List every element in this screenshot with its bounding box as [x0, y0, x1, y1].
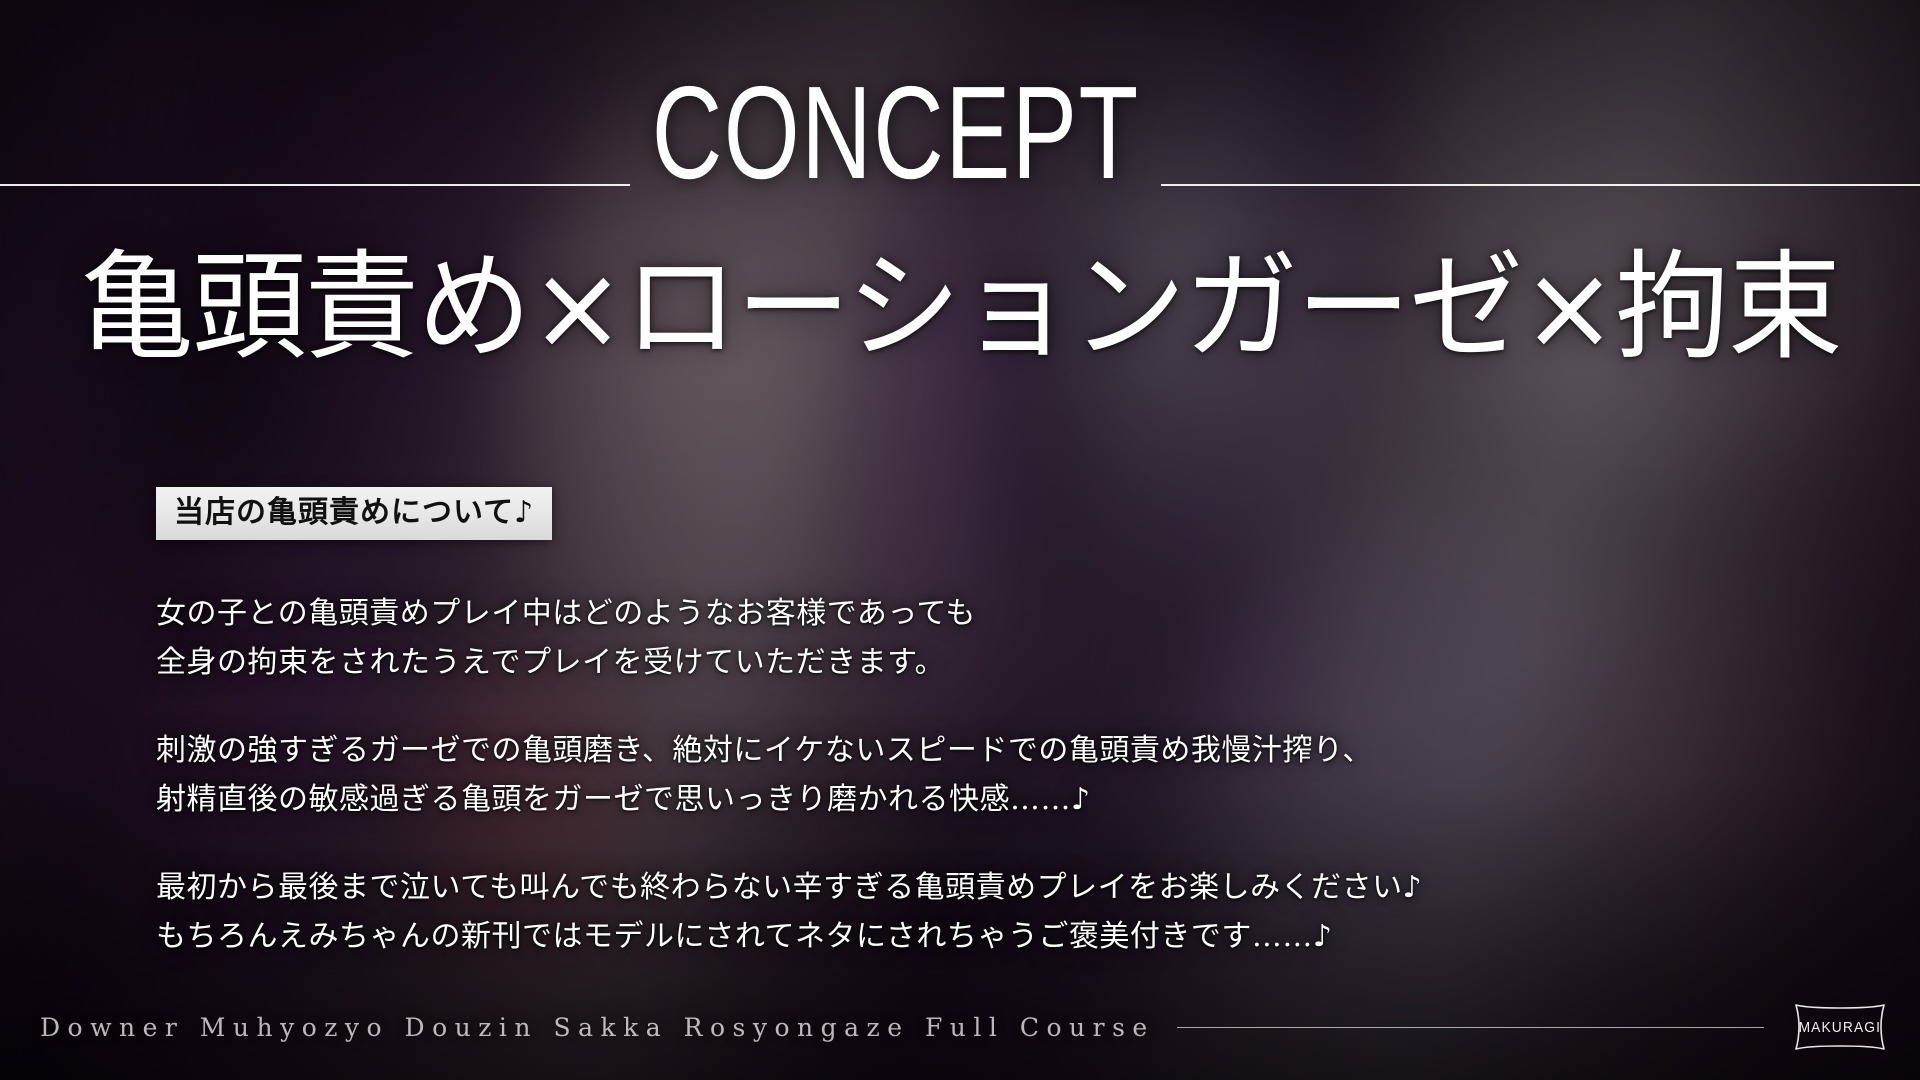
paragraph-line: 全身の拘束をされたうえでプレイを受けていただきます。 — [156, 639, 1816, 688]
paragraph-line: 射精直後の敏感過ぎる亀頭をガーゼで思いっきり磨かれる快感……♪ — [156, 776, 1816, 825]
paragraph-line: 最初から最後まで泣いても叫んでも終わらない辛すぎる亀頭責めプレイをお楽しみくださ… — [156, 864, 1816, 913]
paragraph: 最初から最後まで泣いても叫んでも終わらない辛すぎる亀頭責めプレイをお楽しみくださ… — [156, 864, 1816, 961]
footer: Downer Muhyozyo Douzin Sakka Rosyongaze … — [40, 996, 1894, 1058]
paragraph-line: 刺激の強すぎるガーゼでの亀頭磨き、絶対にイケないスピードでの亀頭責め我慢汁搾り、 — [156, 727, 1816, 776]
header-rule-left — [0, 184, 630, 186]
slide-content: CONCEPT 亀頭責め×ローションガーゼ×拘束 当店の亀頭責めについて♪ 女の… — [0, 0, 1920, 1080]
header: CONCEPT — [0, 48, 1920, 218]
footer-rule — [1177, 1027, 1764, 1028]
section-label: 当店の亀頭責めについて♪ — [156, 487, 552, 540]
brand-logo: MAKURAGI — [1786, 1000, 1894, 1054]
footer-romaji-caption: Downer Muhyozyo Douzin Sakka Rosyongaze … — [40, 1013, 1155, 1042]
paragraph-line: 女の子との亀頭責めプレイ中はどのようなお客様であっても — [156, 590, 1816, 639]
concept-slide: CONCEPT 亀頭責め×ローションガーゼ×拘束 当店の亀頭責めについて♪ 女の… — [0, 0, 1920, 1080]
header-rule-right — [1161, 184, 1920, 186]
body-copy: 女の子との亀頭責めプレイ中はどのようなお客様であっても 全身の拘束をされたうえで… — [156, 590, 1816, 962]
paragraph: 刺激の強すぎるガーゼでの亀頭磨き、絶対にイケないスピードでの亀頭責め我慢汁搾り、… — [156, 727, 1816, 824]
paragraph: 女の子との亀頭責めプレイ中はどのようなお客様であっても 全身の拘束をされたうえで… — [156, 590, 1816, 687]
brand-name: MAKURAGI — [1799, 1019, 1881, 1036]
page-title: CONCEPT — [652, 67, 1140, 199]
headline: 亀頭責め×ローションガーゼ×拘束 — [29, 244, 1891, 371]
paragraph-line: もちろんえみちゃんの新刊ではモデルにされてネタにされちゃうご褒美付きです……♪ — [156, 913, 1816, 962]
